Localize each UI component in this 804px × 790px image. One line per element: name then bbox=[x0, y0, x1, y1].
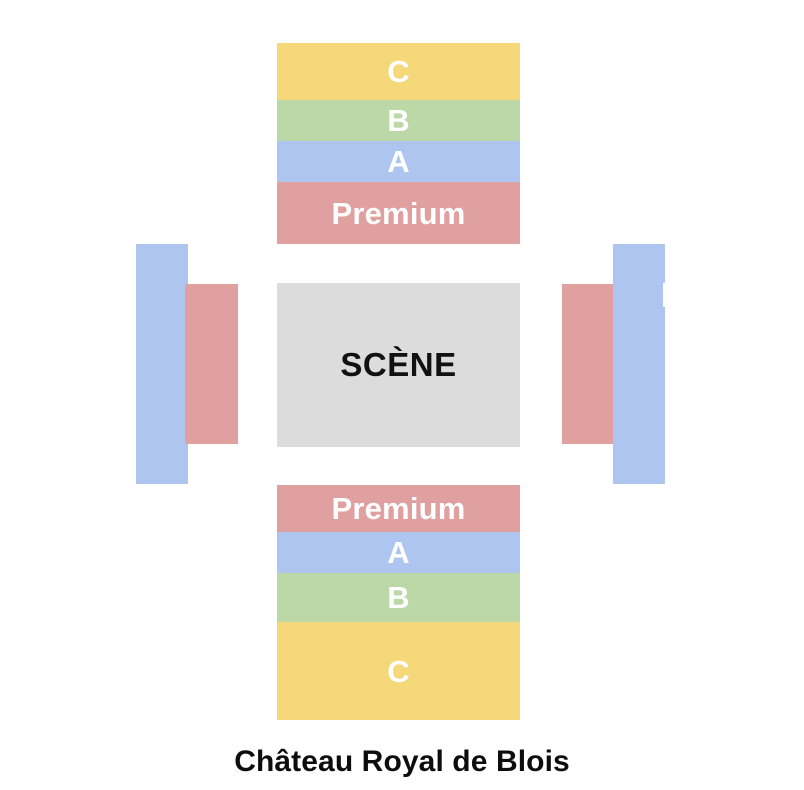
seat-section-label: Premium bbox=[331, 493, 465, 524]
stage-area[interactable]: SCÈNE bbox=[277, 283, 520, 447]
seat-section-right-premium-0[interactable] bbox=[562, 284, 615, 444]
seat-section-right-a-1[interactable] bbox=[613, 244, 665, 484]
stage-label: SCÈNE bbox=[340, 346, 456, 384]
seat-section-label: B bbox=[387, 582, 410, 613]
seat-section-label: C bbox=[387, 56, 410, 87]
seat-section-top-b[interactable]: B bbox=[277, 100, 520, 141]
seat-section-top-premium[interactable]: Premium bbox=[277, 182, 520, 244]
seat-section-bottom-c[interactable]: C bbox=[277, 622, 520, 720]
venue-title: Château Royal de Blois bbox=[0, 745, 804, 779]
seat-section-top-c[interactable]: C bbox=[277, 43, 520, 100]
seat-section-label: A bbox=[387, 146, 410, 177]
seat-section-bottom-premium[interactable]: Premium bbox=[277, 485, 520, 532]
seat-section-label: A bbox=[387, 537, 410, 568]
seat-section-left-premium-1[interactable] bbox=[185, 284, 238, 444]
seat-section-bottom-a[interactable]: A bbox=[277, 532, 520, 573]
right-block-notch bbox=[663, 283, 666, 307]
seat-section-label: C bbox=[387, 656, 410, 687]
seat-section-label: Premium bbox=[331, 198, 465, 229]
seating-map-canvas: CBAPremium SCÈNE PremiumABC Château Roya… bbox=[0, 0, 804, 790]
seat-section-label: B bbox=[387, 105, 410, 136]
seat-section-bottom-b[interactable]: B bbox=[277, 573, 520, 622]
seat-section-left-a-0[interactable] bbox=[136, 244, 188, 484]
seat-section-top-a[interactable]: A bbox=[277, 141, 520, 182]
